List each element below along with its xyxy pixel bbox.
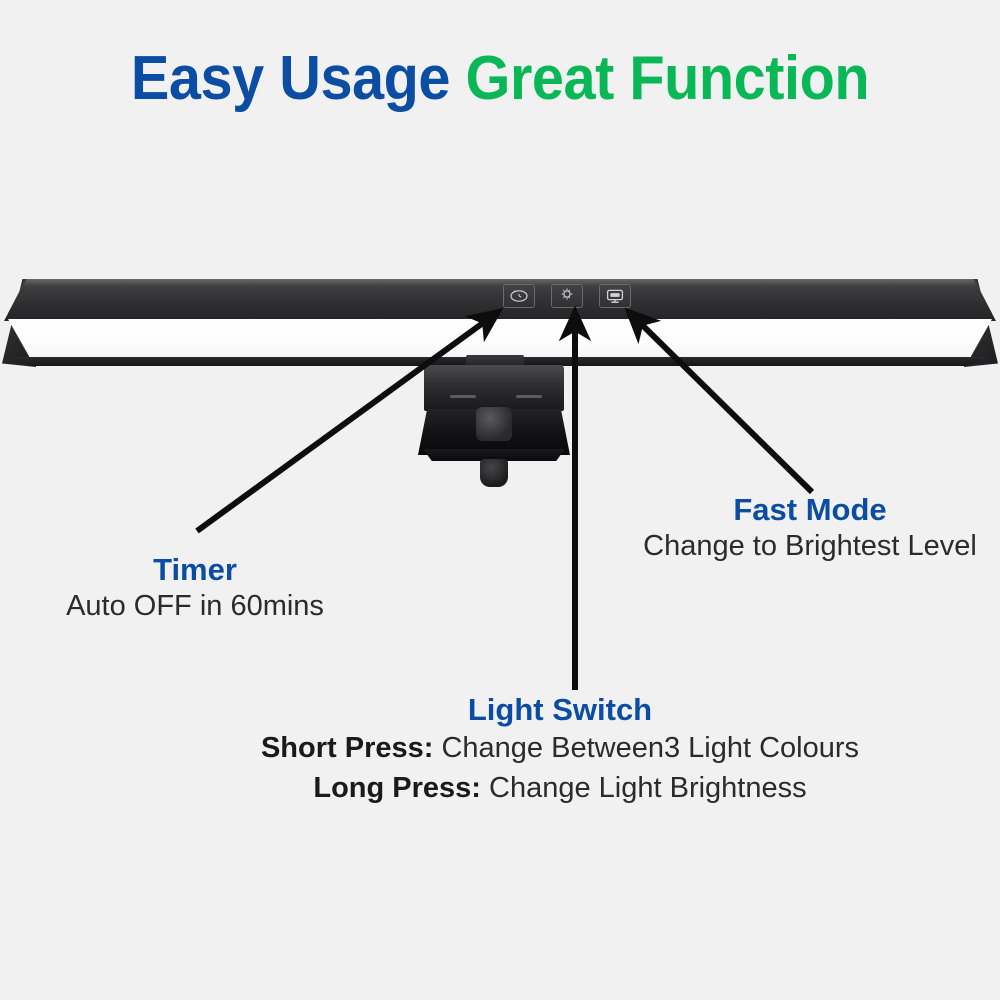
timer-button[interactable]: [503, 284, 535, 308]
callout-timer-heading: Timer: [0, 552, 390, 588]
mount-pivot-knob: [476, 407, 512, 441]
page-title: Easy Usage Great Function: [35, 48, 965, 110]
clamp-mount: [418, 355, 570, 495]
fast-mode-button[interactable]: [599, 284, 631, 308]
long-press-text: Change Light Brightness: [481, 772, 807, 804]
mount-thumb-screw: [480, 459, 508, 487]
callout-fast-mode: Fast Mode Change to Brightest Level: [600, 492, 1000, 565]
monitor-icon: [606, 289, 624, 304]
callout-light-switch-heading: Light Switch: [190, 692, 930, 728]
mount-vent-slot: [516, 395, 542, 398]
mount-vent-slot: [450, 395, 476, 398]
short-press-text: Change Between3 Light Colours: [433, 732, 859, 764]
timer-icon: [509, 289, 529, 303]
title-part-blue: Easy Usage: [131, 44, 466, 113]
light-bar-top-panel: [4, 279, 996, 321]
callout-fast-mode-heading: Fast Mode: [600, 492, 1000, 528]
light-switch-button[interactable]: [551, 284, 583, 308]
callout-light-switch-short-press: Short Press: Change Between3 Light Colou…: [190, 728, 930, 768]
control-button-row: [503, 284, 639, 308]
callout-timer: Timer Auto OFF in 60mins: [0, 552, 390, 625]
light-bulb-icon: [559, 288, 575, 304]
infographic-canvas: Easy Usage Great Function: [0, 0, 1000, 1000]
title-part-green: Great Function: [466, 44, 870, 113]
mount-upper-body: [424, 365, 564, 411]
long-press-label: Long Press:: [313, 772, 481, 804]
product-image-light-bar: [0, 255, 1000, 515]
short-press-label: Short Press:: [261, 732, 433, 764]
callout-light-switch: Light Switch Short Press: Change Between…: [190, 692, 930, 808]
light-bar-top-highlight: [4, 279, 996, 285]
callout-timer-description: Auto OFF in 60mins: [0, 588, 390, 626]
callout-fast-mode-description: Change to Brightest Level: [600, 528, 1000, 566]
callout-light-switch-long-press: Long Press: Change Light Brightness: [190, 768, 930, 808]
